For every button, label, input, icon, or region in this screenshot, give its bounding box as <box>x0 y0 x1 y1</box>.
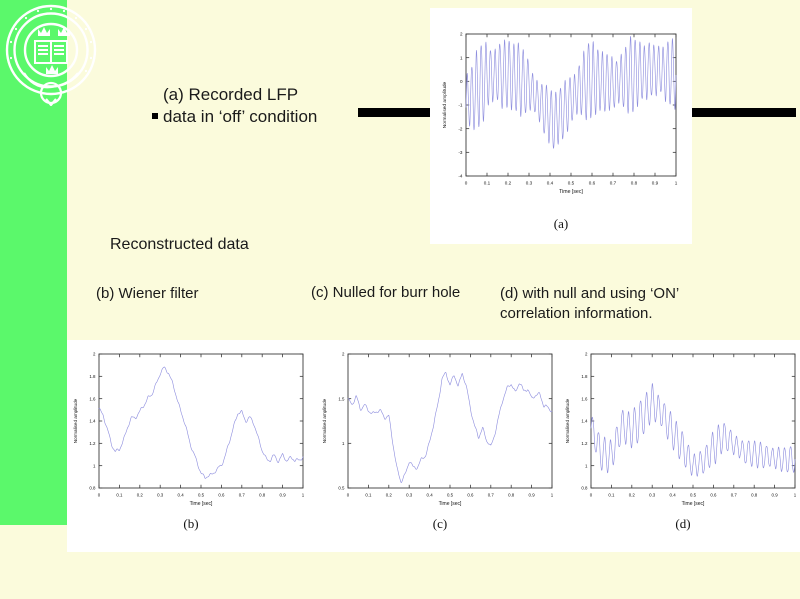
svg-text:Normalised amplitude: Normalised amplitude <box>322 398 327 443</box>
svg-text:2: 2 <box>342 352 345 357</box>
svg-text:1.8: 1.8 <box>89 374 96 379</box>
slide-canvas: (a) Recorded LFP data in ‘off’ condition… <box>0 0 800 599</box>
svg-text:2: 2 <box>460 32 463 37</box>
svg-text:0.7: 0.7 <box>731 493 738 498</box>
svg-text:0.8: 0.8 <box>259 493 266 498</box>
svg-text:0: 0 <box>590 493 593 498</box>
figure-d: 00.10.20.30.40.50.60.70.80.9121.81.61.41… <box>559 344 800 544</box>
sidebar-footer-gap <box>0 525 67 599</box>
svg-text:1: 1 <box>460 55 463 60</box>
svg-text:1: 1 <box>551 493 554 498</box>
figure-d-caption: (d) <box>559 516 800 532</box>
svg-text:1.5: 1.5 <box>338 396 345 401</box>
svg-text:1.4: 1.4 <box>89 419 96 424</box>
page-title-line2: data in ‘off’ condition <box>163 106 383 128</box>
figure-b-plot: 00.10.20.30.40.50.60.70.80.9121.81.61.41… <box>67 344 315 514</box>
section-label-reconstructed: Reconstructed data <box>110 236 249 254</box>
svg-text:1: 1 <box>675 181 678 186</box>
svg-text:0.1: 0.1 <box>116 493 123 498</box>
figure-b: 00.10.20.30.40.50.60.70.80.9121.81.61.41… <box>67 344 315 544</box>
svg-text:2: 2 <box>585 352 588 357</box>
svg-text:0.6: 0.6 <box>467 493 474 498</box>
figure-a-plot: 00.10.20.30.40.50.60.70.80.91210-1-2-3-4… <box>436 24 686 204</box>
svg-text:0.5: 0.5 <box>690 493 697 498</box>
svg-text:0.5: 0.5 <box>338 486 345 491</box>
figure-d-svg: 00.10.20.30.40.50.60.70.80.9121.81.61.41… <box>559 344 800 514</box>
svg-text:Time [sec]: Time [sec] <box>190 501 213 507</box>
divider-rule-right <box>692 108 796 117</box>
svg-text:0.9: 0.9 <box>529 493 536 498</box>
svg-text:0.9: 0.9 <box>280 493 287 498</box>
figure-c: 00.10.20.30.40.50.60.70.80.9121.510.5Tim… <box>316 344 564 544</box>
svg-text:0.8: 0.8 <box>751 493 758 498</box>
svg-text:2: 2 <box>93 352 96 357</box>
svg-text:1.2: 1.2 <box>89 441 96 446</box>
svg-text:0.4: 0.4 <box>427 493 434 498</box>
svg-text:-1: -1 <box>458 103 463 108</box>
svg-text:0.1: 0.1 <box>484 181 491 186</box>
svg-text:0.5: 0.5 <box>568 181 575 186</box>
svg-text:-2: -2 <box>458 126 463 131</box>
svg-text:Time [sec]: Time [sec] <box>559 189 583 195</box>
page-title-line1: (a) Recorded LFP <box>163 84 383 106</box>
svg-text:Normalised amplitude: Normalised amplitude <box>565 398 570 443</box>
svg-text:0.4: 0.4 <box>670 493 677 498</box>
svg-text:0.6: 0.6 <box>218 493 225 498</box>
svg-text:0.3: 0.3 <box>526 181 533 186</box>
svg-text:0: 0 <box>465 181 468 186</box>
figure-c-plot: 00.10.20.30.40.50.60.70.80.9121.510.5Tim… <box>316 344 564 514</box>
svg-text:-4: -4 <box>458 174 463 179</box>
svg-text:Normalised amplitude: Normalised amplitude <box>73 398 78 443</box>
svg-text:0.3: 0.3 <box>157 493 164 498</box>
svg-text:0.8: 0.8 <box>631 181 638 186</box>
svg-text:0.4: 0.4 <box>178 493 185 498</box>
svg-text:0: 0 <box>98 493 101 498</box>
figure-d-label-line1: (d) with null and using ‘ON’ <box>500 284 750 304</box>
svg-text:1.2: 1.2 <box>581 441 588 446</box>
figure-c-caption: (c) <box>316 516 564 532</box>
svg-text:1: 1 <box>342 441 345 446</box>
figure-a-svg: 00.10.20.30.40.50.60.70.80.91210-1-2-3-4… <box>436 24 686 204</box>
figure-a-panel: 00.10.20.30.40.50.60.70.80.91210-1-2-3-4… <box>430 8 692 244</box>
figure-c-label: (c) Nulled for burr hole <box>311 284 460 301</box>
svg-text:0.5: 0.5 <box>447 493 454 498</box>
svg-text:-3: -3 <box>458 150 463 155</box>
figure-d-label-line2: correlation information. <box>500 304 750 324</box>
svg-text:0.1: 0.1 <box>608 493 615 498</box>
svg-text:0: 0 <box>347 493 350 498</box>
svg-text:0.8: 0.8 <box>508 493 515 498</box>
svg-text:1.6: 1.6 <box>581 396 588 401</box>
svg-text:0.2: 0.2 <box>386 493 393 498</box>
svg-text:0.8: 0.8 <box>89 486 96 491</box>
figure-b-caption: (b) <box>67 516 315 532</box>
svg-text:0.9: 0.9 <box>652 181 659 186</box>
svg-text:0.1: 0.1 <box>365 493 372 498</box>
figure-b-svg: 00.10.20.30.40.50.60.70.80.9121.81.61.41… <box>67 344 315 514</box>
svg-text:Time [sec]: Time [sec] <box>682 501 705 507</box>
svg-text:0.9: 0.9 <box>772 493 779 498</box>
svg-text:1.8: 1.8 <box>581 374 588 379</box>
svg-text:0.2: 0.2 <box>505 181 512 186</box>
svg-text:0.3: 0.3 <box>649 493 656 498</box>
svg-text:0.6: 0.6 <box>710 493 717 498</box>
figure-a-caption: (a) <box>436 216 686 232</box>
svg-text:1.6: 1.6 <box>89 396 96 401</box>
svg-text:1: 1 <box>585 463 588 468</box>
svg-text:0.2: 0.2 <box>629 493 636 498</box>
svg-text:0.6: 0.6 <box>589 181 596 186</box>
svg-text:Time [sec]: Time [sec] <box>439 501 462 507</box>
svg-text:Normalised amplitude: Normalised amplitude <box>442 81 448 128</box>
svg-text:0.3: 0.3 <box>406 493 413 498</box>
svg-text:1.4: 1.4 <box>581 419 588 424</box>
svg-text:1: 1 <box>93 463 96 468</box>
bullet-marker-a <box>152 113 158 119</box>
svg-text:0: 0 <box>460 79 463 84</box>
figures-bcd-panel: 00.10.20.30.40.50.60.70.80.9121.81.61.41… <box>67 340 800 552</box>
svg-text:0.8: 0.8 <box>581 486 588 491</box>
figure-d-label: (d) with null and using ‘ON’ correlation… <box>500 284 750 324</box>
figure-a: 00.10.20.30.40.50.60.70.80.91210-1-2-3-4… <box>436 24 686 214</box>
svg-text:0.5: 0.5 <box>198 493 205 498</box>
svg-text:0.4: 0.4 <box>547 181 554 186</box>
figure-c-svg: 00.10.20.30.40.50.60.70.80.9121.510.5Tim… <box>316 344 564 514</box>
svg-text:0.7: 0.7 <box>610 181 617 186</box>
university-of-oxford-crest-icon <box>2 3 100 106</box>
svg-text:0.7: 0.7 <box>488 493 495 498</box>
svg-text:0.7: 0.7 <box>239 493 246 498</box>
svg-text:0.2: 0.2 <box>137 493 144 498</box>
figure-d-plot: 00.10.20.30.40.50.60.70.80.9121.81.61.41… <box>559 344 800 514</box>
svg-text:1: 1 <box>302 493 305 498</box>
figure-b-label: (b) Wiener filter <box>96 285 199 302</box>
page-title: (a) Recorded LFP data in ‘off’ condition <box>163 84 383 128</box>
svg-text:1: 1 <box>794 493 797 498</box>
